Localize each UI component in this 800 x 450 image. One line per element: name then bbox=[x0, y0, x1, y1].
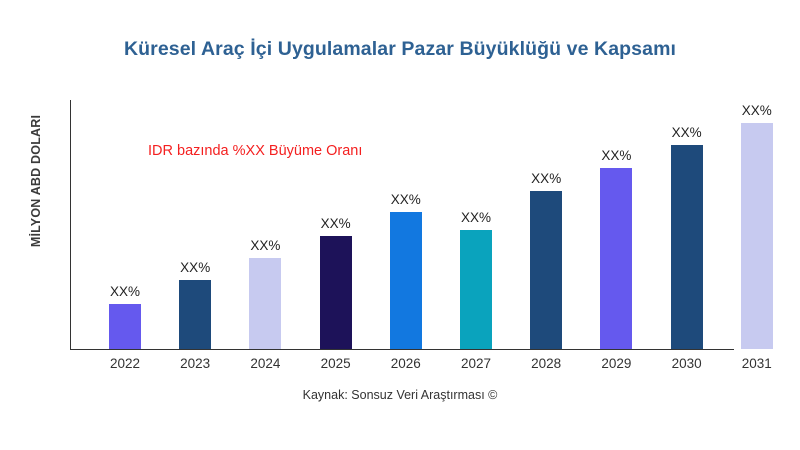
bar-2029[interactable]: XX% bbox=[600, 168, 632, 349]
bar-rect-2027[interactable] bbox=[460, 230, 492, 349]
bar-value-label-2023: XX% bbox=[180, 260, 210, 275]
bar-rect-2022[interactable] bbox=[109, 304, 141, 349]
chart-container: Küresel Araç İçi Uygulamalar Pazar Büyük… bbox=[0, 0, 800, 450]
bar-2025[interactable]: XX% bbox=[320, 236, 352, 349]
growth-rate-annotation: IDR bazında %XX Büyüme Oranı bbox=[148, 143, 362, 159]
source-caption: Kaynak: Sonsuz Veri Araştırması © bbox=[0, 388, 800, 402]
bar-rect-2023[interactable] bbox=[179, 280, 211, 349]
y-axis-label: MİLYON ABD DOLARI bbox=[29, 71, 43, 291]
x-tick-label-2030: 2030 bbox=[657, 356, 717, 371]
x-tick-label-2028: 2028 bbox=[516, 356, 576, 371]
x-tick-label-2022: 2022 bbox=[95, 356, 155, 371]
x-tick-label-2023: 2023 bbox=[165, 356, 225, 371]
x-tick-label-2025: 2025 bbox=[306, 356, 366, 371]
x-tick-label-2026: 2026 bbox=[376, 356, 436, 371]
bar-rect-2030[interactable] bbox=[671, 145, 703, 349]
bar-2026[interactable]: XX% bbox=[390, 212, 422, 349]
bar-rect-2029[interactable] bbox=[600, 168, 632, 349]
bar-value-label-2025: XX% bbox=[321, 216, 351, 231]
bar-2022[interactable]: XX% bbox=[109, 304, 141, 349]
bar-value-label-2030: XX% bbox=[672, 125, 702, 140]
y-axis-line bbox=[70, 100, 71, 350]
bar-2028[interactable]: XX% bbox=[530, 191, 562, 349]
bar-rect-2025[interactable] bbox=[320, 236, 352, 349]
bar-2030[interactable]: XX% bbox=[671, 145, 703, 349]
bar-value-label-2024: XX% bbox=[250, 238, 280, 253]
bar-rect-2024[interactable] bbox=[249, 258, 281, 349]
x-tick-label-2027: 2027 bbox=[446, 356, 506, 371]
bar-rect-2031[interactable] bbox=[741, 123, 773, 349]
bar-value-label-2029: XX% bbox=[601, 148, 631, 163]
x-axis-line bbox=[70, 349, 734, 350]
x-tick-label-2029: 2029 bbox=[586, 356, 646, 371]
bar-2027[interactable]: XX% bbox=[460, 230, 492, 349]
bar-value-label-2031: XX% bbox=[742, 103, 772, 118]
bar-value-label-2022: XX% bbox=[110, 284, 140, 299]
bar-2031[interactable]: XX% bbox=[741, 123, 773, 349]
bar-2023[interactable]: XX% bbox=[179, 280, 211, 349]
x-tick-label-2031: 2031 bbox=[727, 356, 787, 371]
bar-rect-2028[interactable] bbox=[530, 191, 562, 349]
bar-value-label-2028: XX% bbox=[531, 171, 561, 186]
bar-rect-2026[interactable] bbox=[390, 212, 422, 349]
x-tick-label-2024: 2024 bbox=[235, 356, 295, 371]
plot-area: XX%2022XX%2023XX%2024XX%2025XX%2026XX%20… bbox=[0, 0, 800, 450]
bar-2024[interactable]: XX% bbox=[249, 258, 281, 349]
chart-title: Küresel Araç İçi Uygulamalar Pazar Büyük… bbox=[0, 38, 800, 61]
bar-value-label-2027: XX% bbox=[461, 210, 491, 225]
bar-value-label-2026: XX% bbox=[391, 192, 421, 207]
